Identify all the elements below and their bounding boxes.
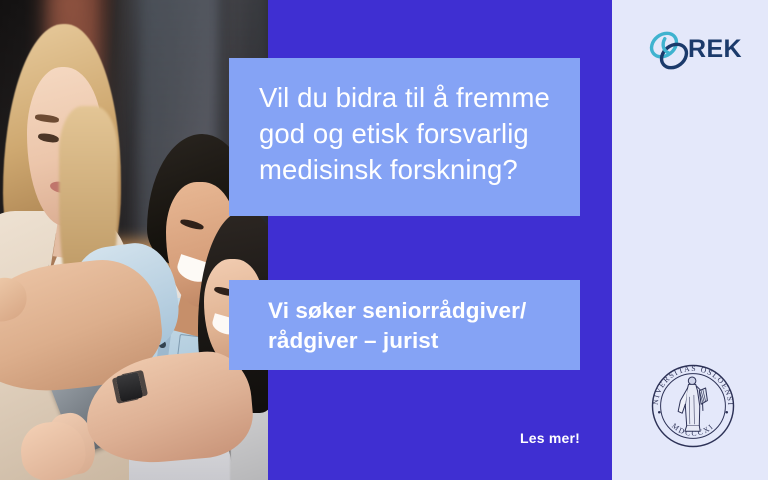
rek-logo[interactable]: REK <box>648 26 748 78</box>
team-photo <box>0 0 268 480</box>
read-more-link[interactable]: Les mer! <box>268 430 580 446</box>
rek-rings-icon <box>648 28 692 74</box>
headline-box: Vil du bidra til å fremme god og etisk f… <box>229 58 580 216</box>
recruitment-banner: Vil du bidra til å fremme god og etisk f… <box>0 0 768 480</box>
subheadline-box: Vi søker seniorrådgiver/ rådgiver – juri… <box>229 280 580 370</box>
uio-seal-icon: UNIVERSITAS OSLOENSIS MDCCCXI <box>648 361 738 451</box>
rek-wordmark: REK <box>688 35 742 64</box>
headline-text: Vil du bidra til å fremme god og etisk f… <box>259 80 554 188</box>
subheadline-text: Vi søker seniorrådgiver/ rådgiver – juri… <box>268 296 554 356</box>
